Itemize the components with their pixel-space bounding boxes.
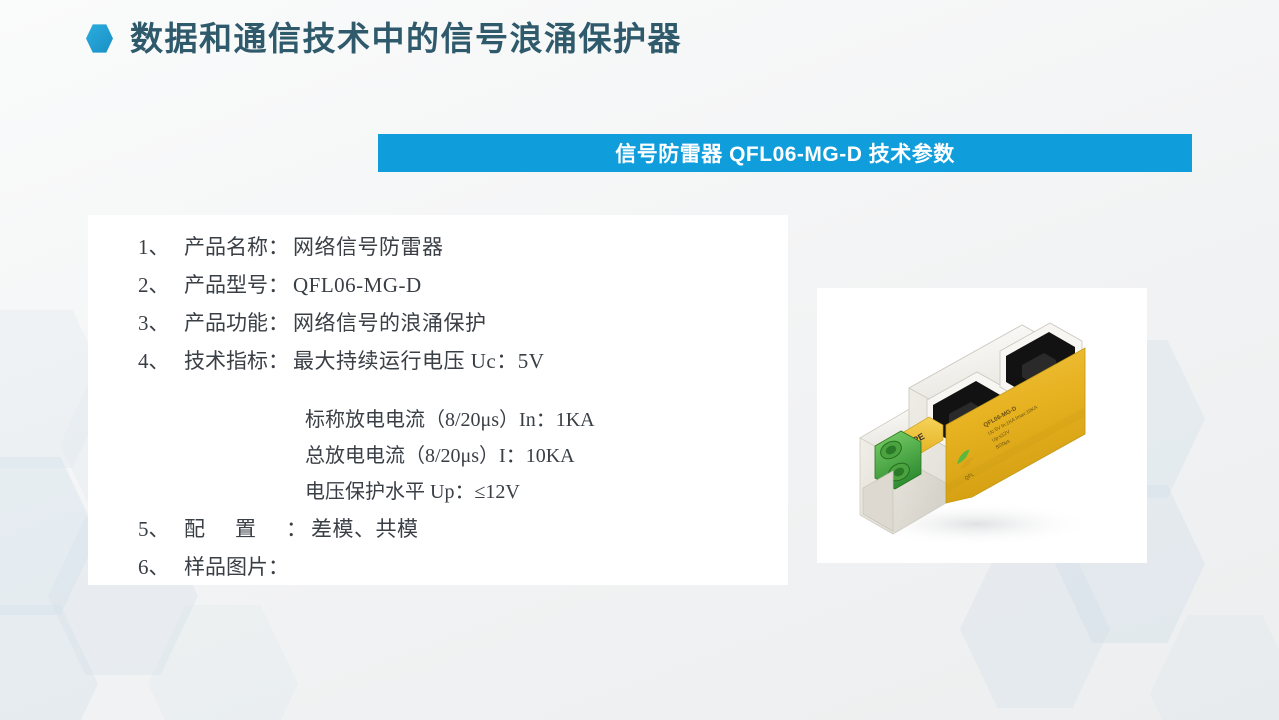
hexagon-watermark [960,545,1110,713]
spec-value: 差模、共模 [311,510,419,548]
spec-index: 3、 [138,304,184,342]
section-banner: 信号防雷器 QFL06-MG-D 技术参数 [378,134,1192,172]
spec-label: 产品型号 [184,266,268,304]
spec-colon: ： [268,228,293,266]
spec-row: 6、 样品图片 ： [138,548,778,586]
spec-colon: ： [268,266,293,304]
spec-value: 最大持续运行电压 Uc：5V [293,342,544,380]
spec-colon: ： [268,304,293,342]
spacer [138,380,778,402]
spec-row: 4、 技术指标 ： 最大持续运行电压 Uc：5V [138,342,778,380]
spec-label: 产品名称 [184,228,268,266]
product-photo-panel: IN OUT PE [817,288,1147,563]
hexagon-watermark [148,600,298,720]
spec-row: 2、 产品型号 ： QFL06-MG-D [138,266,778,304]
spec-label: 样品图片 [184,548,268,586]
spec-colon: ： [286,510,311,548]
spec-row: 1、 产品名称 ： 网络信号防雷器 [138,228,778,266]
hexagon-watermark [0,452,98,620]
spec-index: 4、 [138,342,184,380]
product-photo: IN OUT PE [817,288,1147,563]
spec-label: 技术指标 [184,342,268,380]
spec-colon: ： [268,548,293,586]
page-title: 数据和通信技术中的信号浪涌保护器 [130,22,682,55]
spec-panel: 1、 产品名称 ： 网络信号防雷器 2、 产品型号 ： QFL06-MG-D 3… [88,215,788,585]
spec-label: 产品功能 [184,304,268,342]
spec-index: 5、 [138,510,184,548]
spec-index: 6、 [138,548,184,586]
hexagon-icon [86,24,113,54]
spec-sub-row: 总放电电流（8/20μs）I：10KA [305,438,778,474]
page-header: 数据和通信技术中的信号浪涌保护器 [86,22,682,55]
spec-sub-row: 标称放电电流（8/20μs）In：1KA [305,402,778,438]
spec-value: QFL06-MG-D [293,266,422,304]
spec-index: 1、 [138,228,184,266]
spec-list: 1、 产品名称 ： 网络信号防雷器 2、 产品型号 ： QFL06-MG-D 3… [138,228,778,586]
spec-row: 5、 配置 ： 差模、共模 [138,510,778,548]
spec-index: 2、 [138,266,184,304]
spec-value: 网络信号的浪涌保护 [293,304,487,342]
spec-row: 3、 产品功能 ： 网络信号的浪涌保护 [138,304,778,342]
slide-root: 数据和通信技术中的信号浪涌保护器 信号防雷器 QFL06-MG-D 技术参数 1… [0,0,1279,720]
hexagon-watermark [0,600,98,720]
section-banner-label: 信号防雷器 QFL06-MG-D 技术参数 [615,138,955,168]
hexagon-watermark [1150,610,1279,720]
spec-colon: ： [268,342,293,380]
spec-sub-row: 电压保护水平 Up：≤12V [305,474,778,510]
spec-value: 网络信号防雷器 [293,228,444,266]
spec-label: 配置 [184,510,286,548]
